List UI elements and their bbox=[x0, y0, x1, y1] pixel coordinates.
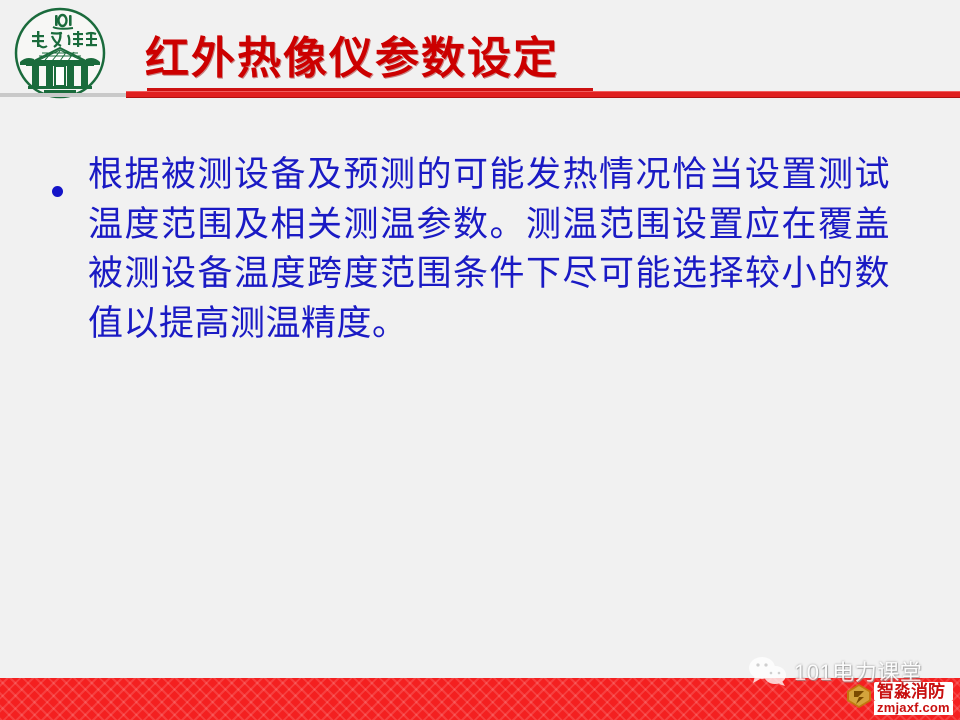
bullet-item: 根据被测设备及预测的可能发热情况恰当设置测试温度范围及相关测温参数。测温范围设置… bbox=[0, 150, 960, 349]
logo-emblem-icon bbox=[12, 6, 108, 100]
bullet-dot-icon bbox=[52, 186, 63, 197]
watermark-name: 智淼消防 bbox=[874, 682, 953, 701]
zhimiao-mark-icon bbox=[846, 683, 872, 709]
watermark-url: zmjaxf.com bbox=[874, 701, 953, 715]
slide-content: 根据被测设备及预测的可能发热情况恰当设置测试温度范围及相关测温参数。测温范围设置… bbox=[0, 150, 960, 349]
page-title: 红外热像仪参数设定 bbox=[145, 36, 559, 83]
bullet-text: 根据被测设备及预测的可能发热情况恰当设置测试温度范围及相关测温参数。测温范围设置… bbox=[48, 150, 960, 349]
slide-header: 红外热像仪参数设定 bbox=[0, 0, 960, 104]
wechat-icon bbox=[748, 655, 788, 687]
watermark: 智淼消防 zmjaxf.com bbox=[846, 682, 953, 715]
header-divider-red bbox=[126, 91, 960, 98]
header-divider-gray bbox=[0, 93, 126, 97]
logo bbox=[12, 6, 108, 100]
watermark-texts: 智淼消防 zmjaxf.com bbox=[874, 682, 953, 715]
presentation-slide: 红外热像仪参数设定 根据被测设备及预测的可能发热情况恰当设置测试温度范围及相关测… bbox=[0, 0, 960, 720]
